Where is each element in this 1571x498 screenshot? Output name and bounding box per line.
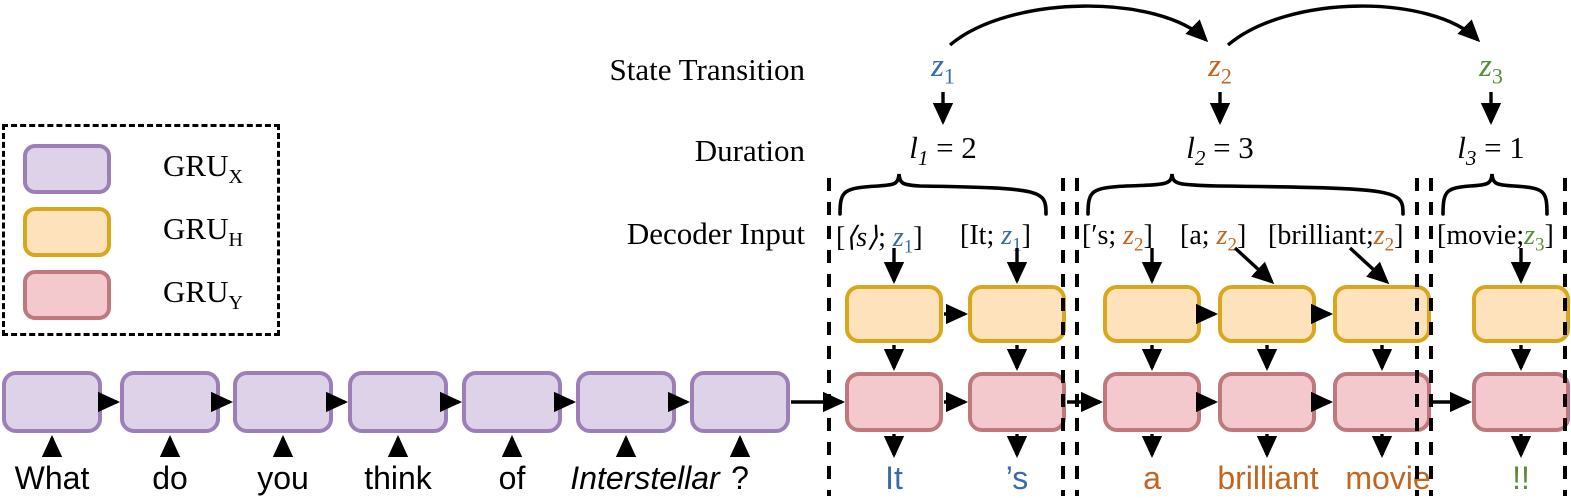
legend-label-gru-x: GRUX xyxy=(163,148,243,189)
decoder-input-1: [⟨s⟩; z1] xyxy=(836,220,923,259)
decoder-output-2: ’s xyxy=(968,460,1066,497)
encoder-cell-1 xyxy=(2,371,102,433)
legend-label-gru-y: GRUY xyxy=(163,274,243,315)
decoder-output-6: !! xyxy=(1472,460,1570,497)
brace-segment-3 xyxy=(1443,174,1547,214)
decoder-h-cell-3 xyxy=(1103,285,1201,343)
decoder-h-cell-5 xyxy=(1333,285,1431,343)
encoder-word-2: do xyxy=(120,460,220,497)
decoder-y-cell-5 xyxy=(1333,372,1431,432)
legend-item-gru-h: GRUH xyxy=(23,207,243,257)
brace-segment-1 xyxy=(840,174,1046,214)
arrow-z1-to-z2 xyxy=(950,6,1206,45)
decoder-y-cell-6 xyxy=(1472,372,1570,432)
legend-swatch-gru-h xyxy=(23,207,111,257)
duration-l1: l1 = 2 xyxy=(888,130,998,171)
decoder-input-4: [a; z2] xyxy=(1180,220,1246,257)
decoder-y-cell-3 xyxy=(1103,372,1201,432)
latent-state-z3: z3 xyxy=(1436,48,1546,90)
legend-swatch-gru-x xyxy=(23,144,111,194)
decoder-h-cell-6 xyxy=(1472,285,1570,343)
latent-state-z1: z1 xyxy=(888,48,998,90)
brace-segment-2 xyxy=(1088,174,1403,214)
decoder-h-cell-2 xyxy=(968,285,1066,343)
encoder-cell-5 xyxy=(462,371,562,433)
encoder-cell-6 xyxy=(576,371,676,433)
encoder-word-4: think xyxy=(348,460,448,497)
decoder-y-cell-4 xyxy=(1218,372,1316,432)
latent-state-z2: z2 xyxy=(1165,48,1275,90)
encoder-cell-3 xyxy=(233,371,333,433)
duration-l2: l2 = 3 xyxy=(1165,130,1275,171)
row-label-duration: Duration xyxy=(455,133,805,169)
encoder-cell-2 xyxy=(120,371,220,433)
decoder-input-2: [It; z1] xyxy=(960,220,1031,257)
decoder-y-cell-1 xyxy=(845,372,943,432)
legend-item-gru-x: GRUX xyxy=(23,144,243,194)
row-label-state-transition: State Transition xyxy=(455,52,805,88)
decoder-output-3: a xyxy=(1103,460,1201,497)
decoder-output-5: movie xyxy=(1333,460,1443,497)
legend-item-gru-y: GRUY xyxy=(23,270,243,320)
decoder-input-5: [brilliant;z2] xyxy=(1268,220,1404,257)
encoder-word-3: you xyxy=(233,460,333,497)
arrow-z2-to-z3 xyxy=(1228,6,1478,45)
decoder-output-1: It xyxy=(845,460,943,497)
decoder-input-3: [′s; z2] xyxy=(1082,220,1153,257)
decoder-input-6: [movie;z3] xyxy=(1437,220,1554,257)
legend-swatch-gru-y xyxy=(23,270,111,320)
encoder-cell-7 xyxy=(690,371,790,433)
decoder-y-cell-2 xyxy=(968,372,1066,432)
decoder-output-4: brilliant xyxy=(1198,460,1338,497)
legend-label-gru-h: GRUH xyxy=(163,211,243,252)
decoder-h-cell-1 xyxy=(845,285,943,343)
encoder-word-7: ? xyxy=(690,460,790,497)
decoder-h-cell-4 xyxy=(1218,285,1316,343)
encoder-cell-4 xyxy=(348,371,448,433)
row-label-decoder-input: Decoder Input xyxy=(455,216,805,252)
diagram-canvas: GRUX GRUH GRUY State Transition Duration… xyxy=(0,0,1571,498)
legend-box: GRUX GRUH GRUY xyxy=(2,124,280,336)
duration-l3: l3 = 1 xyxy=(1436,130,1546,171)
encoder-word-1: What xyxy=(2,460,102,497)
